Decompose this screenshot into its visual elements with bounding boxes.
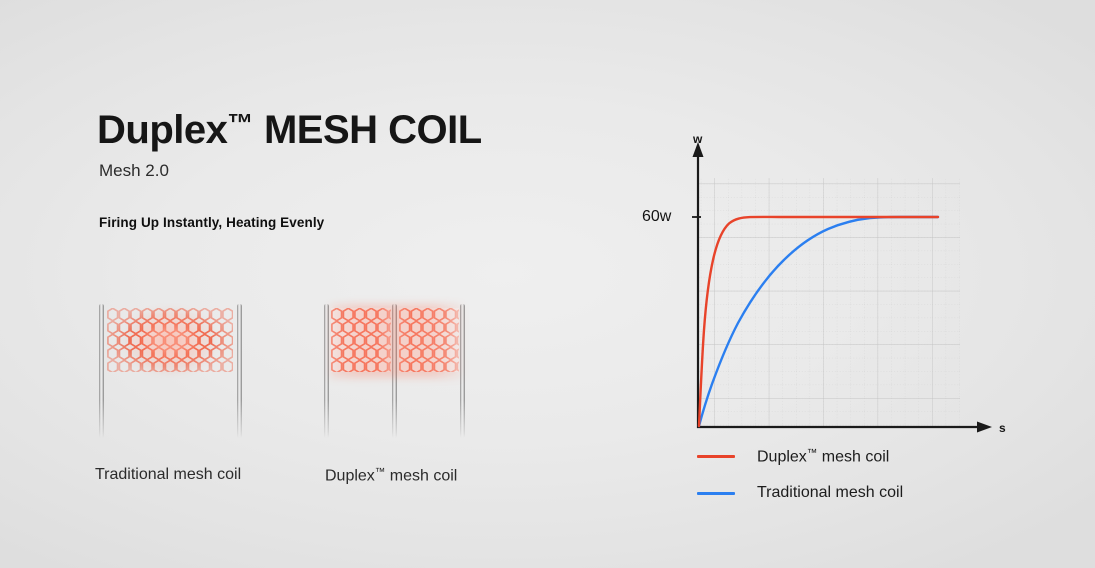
- coil-leg: [99, 304, 104, 438]
- legend-label-main: Traditional mesh coil: [757, 484, 903, 501]
- legend-label-duplex: Duplex™ mesh coil: [757, 447, 889, 466]
- chart-grid: [698, 178, 960, 426]
- traditional-coil-caption: Traditional mesh coil: [95, 466, 241, 484]
- caption-text-rest: mesh coil: [385, 467, 457, 484]
- mesh-panel: [399, 308, 459, 372]
- slide-canvas: Duplex™ MESH COIL Mesh 2.0 Firing Up Ins…: [0, 0, 1095, 568]
- y-tick-label-60w: 60w: [642, 208, 671, 226]
- legend-swatch-traditional: [697, 492, 735, 495]
- coil-leg: [237, 304, 242, 438]
- coil-leg: [324, 304, 329, 438]
- chart-svg: [660, 130, 1020, 450]
- page-subtitle: Mesh 2.0: [99, 161, 169, 181]
- x-axis-label: s: [999, 421, 1006, 435]
- legend-label-main: Duplex: [757, 448, 807, 465]
- page-title: Duplex™ MESH COIL: [97, 110, 482, 150]
- legend-label-rest: mesh coil: [817, 448, 889, 465]
- trademark-symbol: ™: [227, 108, 253, 138]
- duplex-coil-illustration: [320, 300, 485, 440]
- performance-chart: w s 60w: [660, 130, 1020, 450]
- duplex-coil-caption: Duplex™ mesh coil: [325, 466, 457, 485]
- page-tagline: Firing Up Instantly, Heating Evenly: [99, 215, 324, 230]
- coil-leg: [392, 304, 397, 438]
- legend-label-traditional: Traditional mesh coil: [757, 484, 903, 502]
- chart-legend: Duplex™ mesh coil Traditional mesh coil: [697, 447, 977, 512]
- mesh-panel: [331, 308, 391, 372]
- trademark-symbol: ™: [375, 466, 386, 478]
- caption-text: Duplex: [325, 467, 375, 484]
- legend-item-traditional[interactable]: Traditional mesh coil: [697, 484, 903, 502]
- y-axis-label: w: [693, 132, 702, 146]
- title-main: Duplex: [97, 108, 227, 152]
- title-rest: MESH COIL: [253, 108, 481, 152]
- legend-item-duplex[interactable]: Duplex™ mesh coil: [697, 447, 889, 466]
- coil-leg: [460, 304, 465, 438]
- caption-text: Traditional mesh coil: [95, 466, 241, 483]
- traditional-coil-illustration: [95, 300, 260, 440]
- trademark-symbol: ™: [807, 447, 818, 459]
- mesh-panel: [107, 308, 233, 372]
- legend-swatch-duplex: [697, 455, 735, 458]
